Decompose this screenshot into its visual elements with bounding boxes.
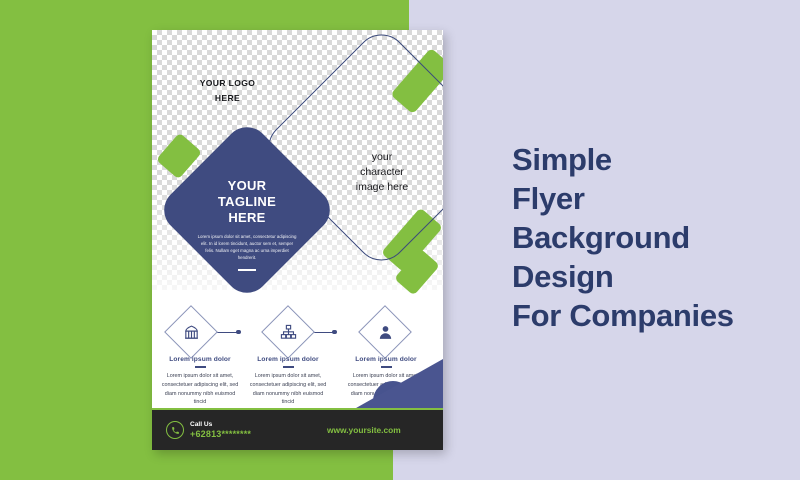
feature-column-2: Lorem ipsum dolor Lorem ipsum dolor sit … (242, 356, 334, 407)
feature-body-1: Lorem ipsum dolor sit amet, consectetuer… (154, 372, 246, 407)
logo-line-2: HERE (152, 91, 303, 106)
character-image-placeholder: your character image here (307, 150, 443, 196)
tagline-title: YOUR TAGLINE HERE (178, 178, 316, 226)
headline-line-2: Flyer (512, 179, 792, 218)
tagline-title-line-2: TAGLINE (178, 194, 316, 210)
character-line-3: image here (307, 180, 443, 195)
feature-connector-dot-4 (332, 330, 337, 335)
phone-number: +62813******** (190, 429, 251, 439)
feature-title-3: Lorem ipsum dolor (340, 356, 432, 363)
feature-icon-wrap-1 (172, 313, 210, 351)
headline-line-1: Simple (512, 140, 792, 179)
logo-line-1: YOUR LOGO (152, 76, 303, 91)
feature-body-2: Lorem ipsum dolor sit amet, consectetuer… (242, 372, 334, 407)
feature-icon-wrap-3 (366, 313, 404, 351)
feature-divider-3 (381, 366, 392, 368)
tagline-divider (238, 269, 256, 271)
feature-divider-2 (283, 366, 294, 368)
flyer-footer: Call Us +62813******** www.yoursite.com (152, 410, 443, 450)
feature-title-2: Lorem ipsum dolor (242, 356, 334, 363)
feature-connector-dot-2 (236, 330, 241, 335)
headline-line-3: Background (512, 218, 792, 257)
page-title: Simple Flyer Background Design For Compa… (512, 140, 792, 335)
logo-placeholder: YOUR LOGO HERE (152, 76, 303, 106)
building-icon (172, 313, 210, 351)
tagline-content: YOUR TAGLINE HERE Lorem ipsum dolor sit … (178, 178, 316, 271)
feature-column-1: Lorem ipsum dolor Lorem ipsum dolor sit … (154, 356, 246, 407)
headline-line-4: Design (512, 257, 792, 296)
character-line-1: your (307, 150, 443, 165)
phone-icon (166, 421, 184, 439)
feature-title-1: Lorem ipsum dolor (154, 356, 246, 363)
tagline-title-line-1: YOUR (178, 178, 316, 194)
tagline-title-line-3: HERE (178, 210, 316, 226)
character-line-2: character (307, 165, 443, 180)
flyer-sheet: YOUR LOGO HERE your character image here… (152, 30, 443, 450)
poster-canvas: YOUR LOGO HERE your character image here… (0, 0, 800, 480)
user-icon (366, 313, 404, 351)
tagline-body: Lorem ipsum dolor sit amet, consectetur … (178, 233, 316, 262)
call-us-block: Call Us +62813******** (190, 421, 251, 439)
call-us-label: Call Us (190, 421, 251, 429)
headline-line-5: For Companies (512, 296, 792, 335)
feature-divider-1 (195, 366, 206, 368)
feature-icon-wrap-2 (269, 313, 307, 351)
sitemap-icon (269, 313, 307, 351)
website-link[interactable]: www.yoursite.com (327, 425, 401, 435)
